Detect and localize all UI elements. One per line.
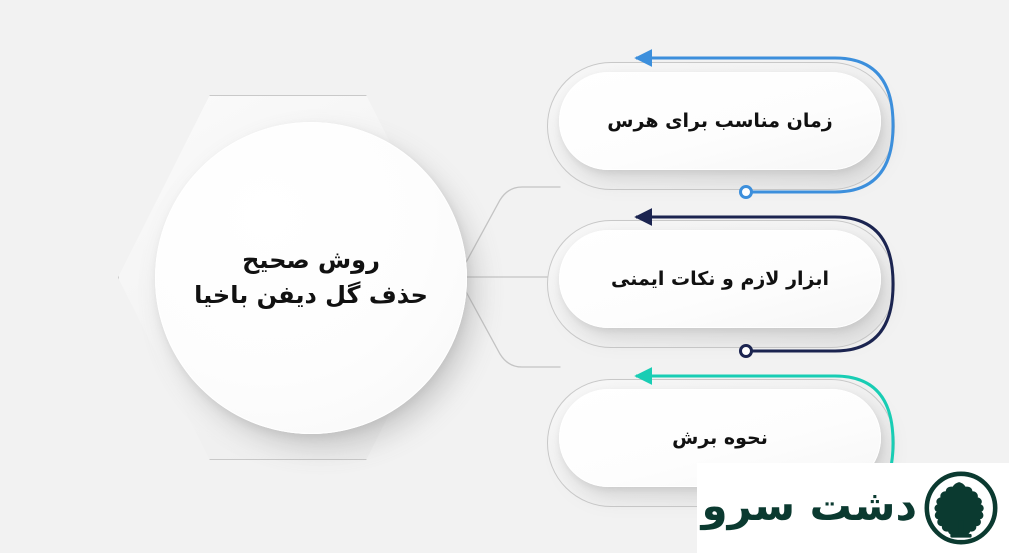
center-circle: روش صحیح حذف گل دیفن باخیا — [155, 122, 467, 434]
brand-name: دشت سرو — [702, 485, 917, 531]
branch-card-tools-and-safety[interactable]: ابزار لازم و نکات ایمنی — [547, 220, 895, 348]
connector-line-2 — [458, 277, 560, 367]
infographic-canvas: روش صحیح حذف گل دیفن باخیا زمان مناسب بر… — [0, 0, 1009, 553]
central-node[interactable]: روش صحیح حذف گل دیفن باخیا — [118, 95, 458, 460]
branch-card-surface: ابزار لازم و نکات ایمنی — [559, 230, 881, 328]
branch-label: ابزار لازم و نکات ایمنی — [585, 268, 855, 290]
connector-line-0 — [458, 187, 560, 277]
cypress-tree-icon — [923, 470, 999, 546]
branch-card-surface: زمان مناسب برای هرس — [559, 72, 881, 170]
brand-logo: دشت سرو — [697, 463, 1009, 553]
center-title: روش صحیح حذف گل دیفن باخیا — [168, 243, 454, 313]
branch-label: نحوه برش — [646, 427, 794, 449]
branch-card-time-to-prune[interactable]: زمان مناسب برای هرس — [547, 62, 895, 190]
branch-label: زمان مناسب برای هرس — [581, 110, 858, 132]
